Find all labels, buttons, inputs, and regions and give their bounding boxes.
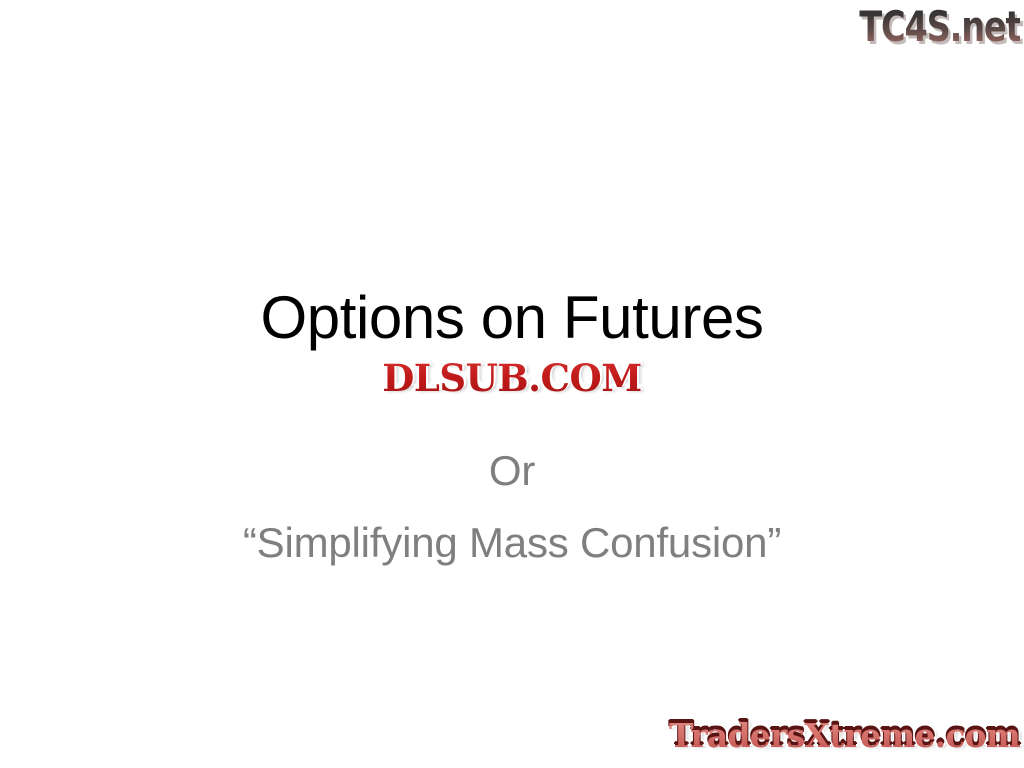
presentation-slide: TC4S.net TC4S.net Options on Futures DLS…: [0, 0, 1024, 768]
slide-title-block: Options on Futures: [0, 286, 1024, 349]
dlsub-watermark-text-group: DLSUB.COM DLSUB.COM: [382, 356, 641, 400]
dlsub-watermark-block: DLSUB.COM DLSUB.COM: [0, 359, 1024, 398]
slide-title: Options on Futures: [260, 286, 763, 349]
dlsub-watermark-logo: DLSUB.COM DLSUB.COM: [382, 359, 641, 398]
tradersxtreme-watermark-logo: TradersXtreme.com TradersXtreme.com Trad…: [676, 712, 1020, 760]
dlsub-watermark-fill: DLSUB.COM: [382, 356, 641, 400]
tc4s-watermark-logo: TC4S.net TC4S.net: [824, 2, 1020, 52]
tradersxtreme-watermark-text-group: TradersXtreme.com TradersXtreme.com Trad…: [669, 716, 1020, 755]
tc4s-watermark-text-group: TC4S.net TC4S.net: [859, 6, 1020, 48]
tradersxtreme-watermark-wrap: TradersXtreme.com TradersXtreme.com Trad…: [669, 719, 1020, 754]
tradersxtreme-watermark-fill: TradersXtreme.com: [669, 716, 1020, 755]
slide-subtitle-line-2: “Simplifying Mass Confusion”: [0, 515, 1024, 571]
slide-subtitle-line-1: Or: [0, 443, 1024, 499]
tc4s-watermark-fill: TC4S.net: [859, 2, 1020, 51]
slide-subtitle-block: Or “Simplifying Mass Confusion”: [0, 443, 1024, 571]
